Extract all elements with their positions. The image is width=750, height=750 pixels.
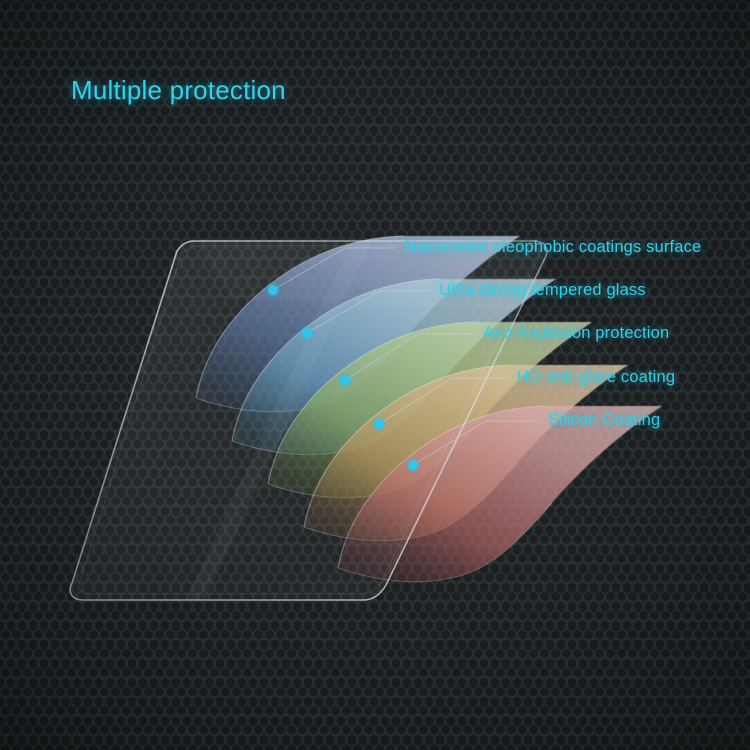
layer-label-4: HD anti-glare coating — [517, 368, 675, 387]
page-title: Multiple protection — [71, 75, 286, 106]
layer-label-1: Nanometer oleophobic coatings surface — [405, 238, 701, 257]
layer-label-5: Silicon Coating — [548, 411, 660, 430]
product-infographic: Multiple protection Nanometer oleophobic… — [0, 0, 750, 750]
layer-label-2: Ultra strong tempered glass — [439, 281, 646, 300]
layer-label-3: Anti-Explosion protection — [483, 324, 669, 343]
